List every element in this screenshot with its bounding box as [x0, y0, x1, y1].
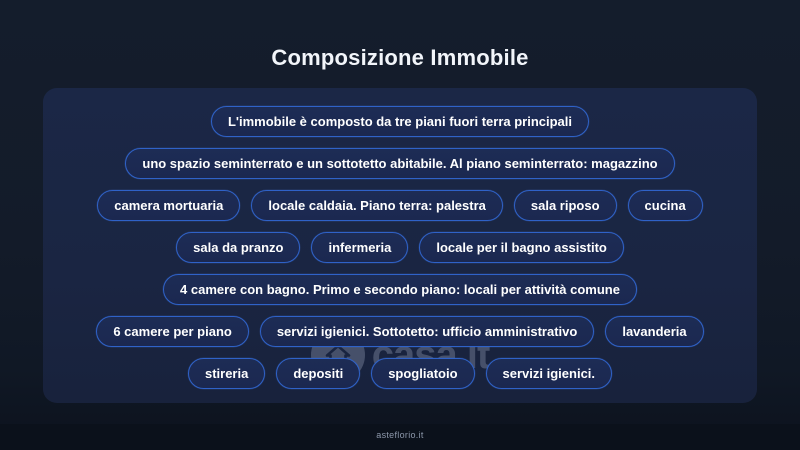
composition-pill[interactable]: cucina	[628, 190, 703, 221]
pill-row: L'immobile è composto da tre piani fuori…	[43, 104, 757, 138]
composition-pill[interactable]: locale caldaia. Piano terra: palestra	[251, 190, 503, 221]
footer-text: asteflorio.it	[0, 430, 800, 440]
composition-pill[interactable]: infermeria	[311, 232, 408, 263]
composition-pill[interactable]: servizi igienici.	[486, 358, 613, 389]
composition-pill[interactable]: 6 camere per piano	[96, 316, 249, 347]
pill-row: sala da pranzoinfermerialocale per il ba…	[43, 230, 757, 264]
composition-pill[interactable]: uno spazio seminterrato e un sottotetto …	[125, 148, 674, 179]
pill-row: 4 camere con bagno. Primo e secondo pian…	[43, 272, 757, 306]
pill-row: camera mortuarialocale caldaia. Piano te…	[43, 188, 757, 222]
composition-pill[interactable]: locale per il bagno assistito	[419, 232, 624, 263]
composition-pill[interactable]: L'immobile è composto da tre piani fuori…	[211, 106, 589, 137]
composition-pill[interactable]: spogliatoio	[371, 358, 474, 389]
page-title: Composizione Immobile	[0, 45, 800, 71]
pill-rows-container: L'immobile è composto da tre piani fuori…	[43, 88, 757, 403]
pill-row: 6 camere per pianoservizi igienici. Sott…	[43, 314, 757, 348]
composition-pill[interactable]: sala riposo	[514, 190, 617, 221]
composition-pill[interactable]: stireria	[188, 358, 265, 389]
pill-row: uno spazio seminterrato e un sottotetto …	[43, 146, 757, 180]
composition-pill[interactable]: lavanderia	[605, 316, 703, 347]
pill-row: stireriadepositispogliatoioservizi igien…	[43, 356, 757, 390]
composition-pill[interactable]: servizi igienici. Sottotetto: ufficio am…	[260, 316, 595, 347]
composition-panel: casa.it L'immobile è composto da tre pia…	[43, 88, 757, 403]
composition-pill[interactable]: sala da pranzo	[176, 232, 300, 263]
composition-pill[interactable]: depositi	[276, 358, 360, 389]
composition-pill[interactable]: 4 camere con bagno. Primo e secondo pian…	[163, 274, 637, 305]
composition-pill[interactable]: camera mortuaria	[97, 190, 240, 221]
